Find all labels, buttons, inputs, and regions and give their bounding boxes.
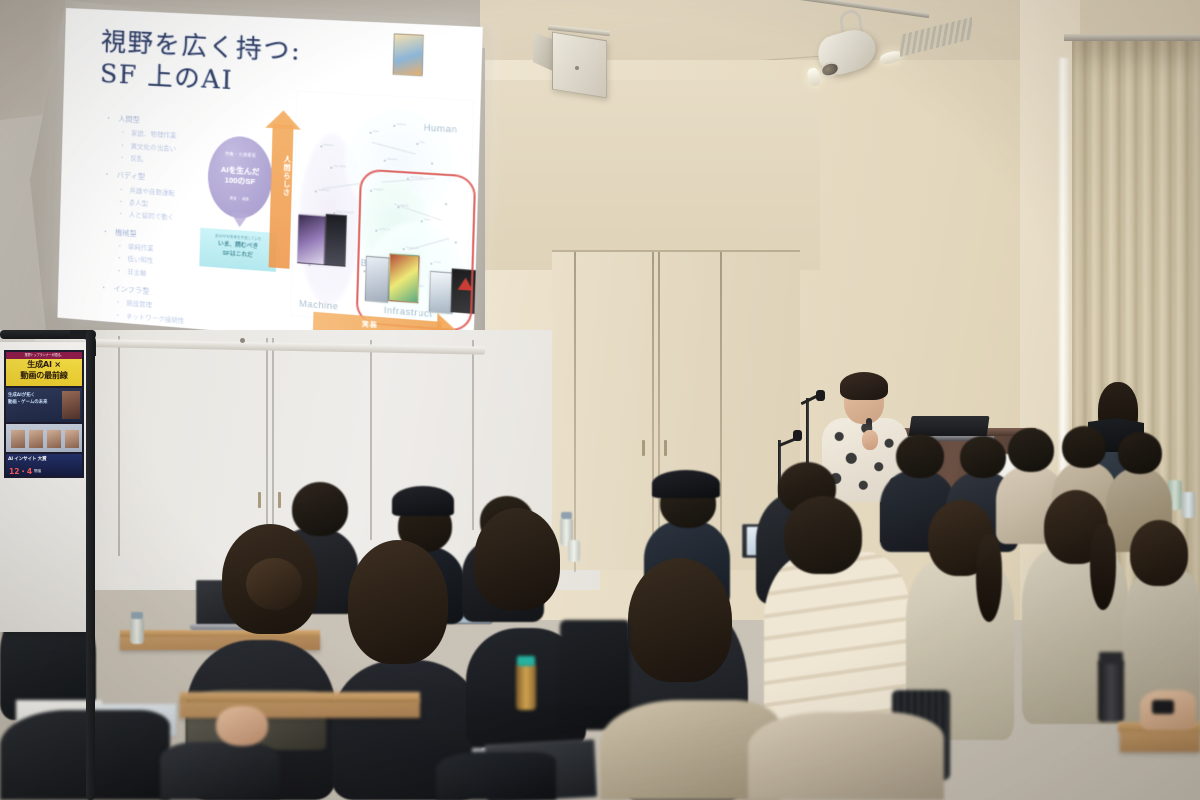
audience-cap <box>652 470 720 498</box>
poster-stand-post <box>86 330 95 800</box>
audience-body-foreground <box>748 712 944 800</box>
poster-date: 12・4 <box>9 466 32 477</box>
table-edge <box>180 692 420 702</box>
tea-bottle <box>516 664 536 710</box>
audience-head <box>348 540 448 664</box>
audience-body-foreground <box>436 752 556 800</box>
water-bottle <box>1182 492 1195 518</box>
water-bottle <box>130 618 144 644</box>
audience-cap <box>392 486 454 516</box>
door-handle[interactable] <box>664 440 667 456</box>
book-cover-machine-2 <box>324 214 347 267</box>
bullet-label: 人間型 <box>118 114 140 124</box>
poster-footer-title: AI インサイト 大賞 <box>8 456 80 462</box>
projected-slide: 視野を広く持つ: SF 上のAI ・人間型 ・家庭、物理作業 ・異文化の出会い … <box>57 8 482 352</box>
axis-arrow-vertical-head-icon <box>265 109 301 129</box>
audience-head <box>474 508 560 610</box>
thermos-flask <box>1098 660 1124 722</box>
mic-head-icon <box>816 390 825 401</box>
ceiling-speaker-icon <box>552 32 607 99</box>
wall-soffit <box>460 80 820 270</box>
poster-title: 生成AI × 動画の最前線 <box>4 359 84 381</box>
audience-ponytail <box>976 534 1002 622</box>
poster-panelist-photo <box>65 430 79 448</box>
audience-head <box>1118 432 1162 474</box>
lecture-hall-photo: 視野を広く持つ: SF 上のAI ・人間型 ・家庭、物理作業 ・異文化の出会い … <box>0 0 1200 800</box>
bottle-cap <box>561 512 572 519</box>
partition-seam <box>272 338 274 553</box>
badge-pointer <box>230 212 249 228</box>
wristwatch <box>1152 700 1174 714</box>
poster-date-note: 開催 <box>34 469 41 474</box>
audience-hair-bun <box>246 558 302 610</box>
audience-body-foreground <box>0 710 170 800</box>
curtain-rail <box>1064 34 1200 41</box>
partition-seam <box>266 338 268 553</box>
screen-bar-knob <box>240 338 245 343</box>
mic-stand <box>806 398 809 468</box>
bottle-cap <box>517 656 535 666</box>
audience-head <box>784 496 862 574</box>
audience-head <box>896 434 944 478</box>
partition-seam <box>370 340 372 540</box>
audience-head <box>960 436 1006 478</box>
slide-red-highlight-box <box>356 168 477 332</box>
table-row <box>180 700 420 718</box>
book-cover-machine-1 <box>297 214 326 265</box>
audience-head <box>292 482 348 536</box>
audience-head <box>1008 428 1054 472</box>
ceiling-speaker-screw <box>575 66 579 70</box>
mic-head-icon <box>793 430 802 441</box>
axis-label-horizontal: 実装 <box>362 318 378 330</box>
audience-body-foreground <box>160 742 280 800</box>
bottle-cap <box>131 612 143 619</box>
bullet-label: バディ型 <box>116 171 145 182</box>
door-handle[interactable] <box>642 440 645 456</box>
event-poster: 業界トップランナーが語る。 生成AI × 動画の最前線 生成AIが拓く 動画・ゲ… <box>4 350 84 478</box>
audience-head <box>1062 426 1106 468</box>
partition-seam <box>118 336 120 556</box>
partition-handle[interactable] <box>278 492 281 508</box>
book-cover-top <box>393 33 424 76</box>
table-row <box>1120 730 1200 752</box>
audience-hand <box>216 706 268 746</box>
poster-mid-text: 生成AIが拓く 動画・ゲームの未来 <box>8 393 56 406</box>
slide-title: 視野を広く持つ: SF 上のAI <box>100 26 302 100</box>
audience-head <box>628 558 732 682</box>
poster-panelist-photo <box>29 430 43 448</box>
badge-kicker: 特集・大規模版 <box>209 150 273 160</box>
audience-head <box>1130 520 1188 586</box>
badge-credit: 著者 ・ 編集 <box>207 194 271 203</box>
axis-label-vertical: 人間らしさ <box>272 155 292 197</box>
cluster-label-human: Human <box>423 122 457 134</box>
partition-seam <box>472 340 474 530</box>
slide-callout-box: あのSFが未来を予言していた いま、読むべき SFはこれだ <box>199 228 277 272</box>
poster-panelist-photo <box>11 430 25 448</box>
speaker-hair <box>840 372 888 400</box>
speaker-hand <box>862 430 878 450</box>
poster-panelist-photo <box>47 430 61 448</box>
audience-ponytail <box>1090 524 1116 610</box>
partition-handle[interactable] <box>258 492 261 508</box>
badge-title: AIを生んだ 100のSF <box>208 164 273 189</box>
water-bottle <box>568 540 580 562</box>
thermos-cap <box>1099 652 1123 664</box>
poster-speaker-photo <box>62 391 80 419</box>
bullet-label: 機械型 <box>115 228 137 239</box>
bullet-label: インフラ型 <box>113 284 149 296</box>
